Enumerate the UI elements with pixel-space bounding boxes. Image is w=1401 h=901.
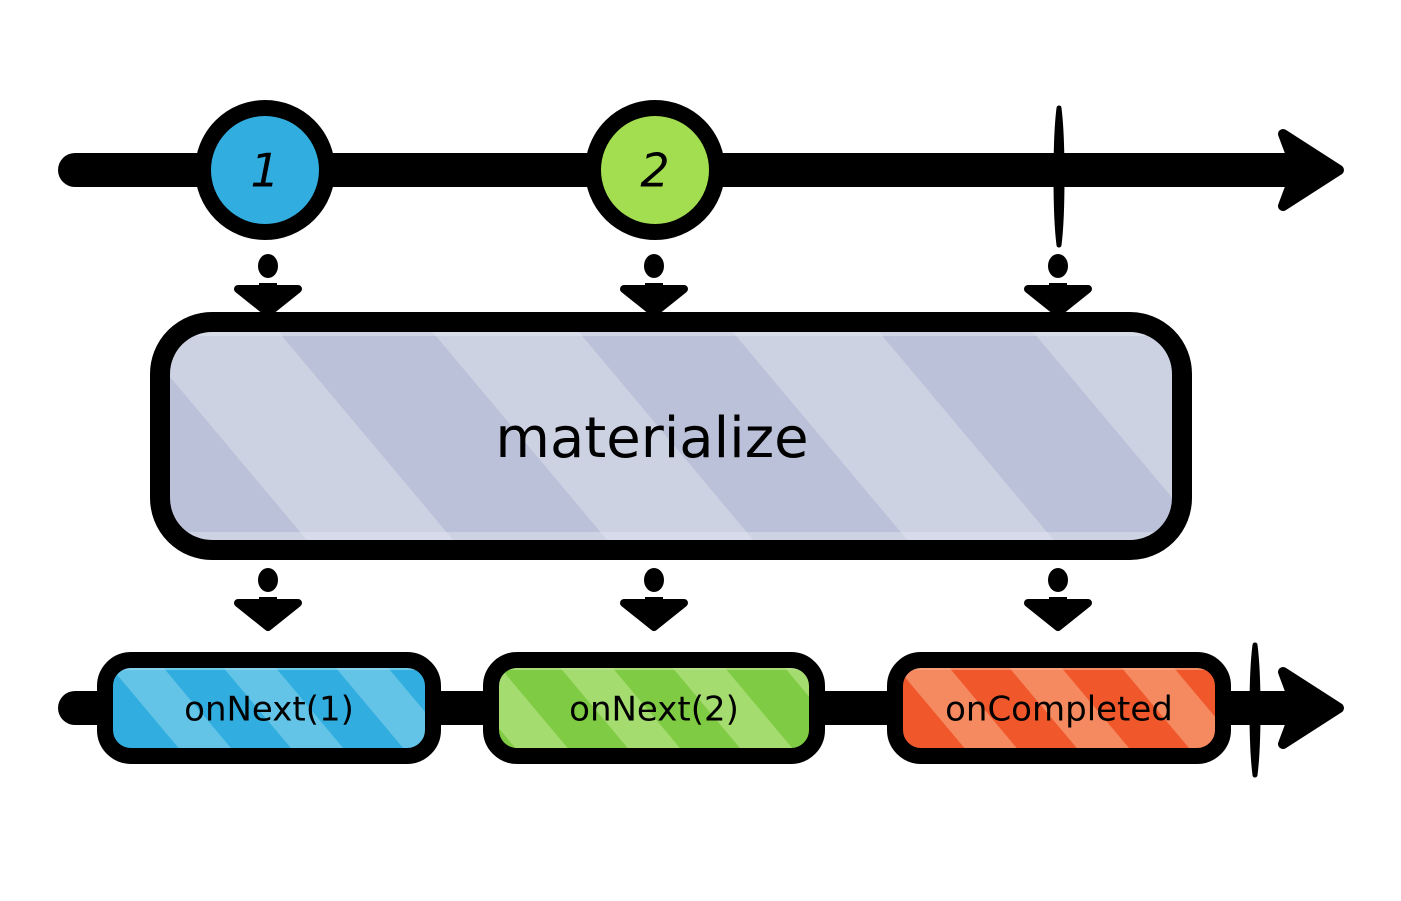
input-arrow-2	[624, 254, 684, 313]
output-arrow-3-dot	[1048, 568, 1068, 592]
output-timeline-arrowhead	[1283, 672, 1339, 744]
notification-on-next-2[interactable]: onNext(2)	[491, 660, 817, 756]
notification-on-completed[interactable]: onCompleted	[895, 660, 1223, 756]
notification-on-completed-label: onCompleted	[945, 690, 1173, 730]
input-arrow-3-dot	[1048, 254, 1068, 278]
diagram-canvas: 1 2	[0, 0, 1401, 901]
output-completion-bar	[1252, 645, 1258, 775]
output-arrow-2-dot	[644, 568, 664, 592]
output-arrow-2	[624, 568, 684, 627]
marble-diagram: 1 2	[0, 0, 1401, 901]
input-arrow-2-head	[624, 289, 684, 313]
output-arrow-3-head	[1028, 603, 1088, 627]
input-arrow-2-dot	[644, 254, 664, 278]
input-arrow-1	[238, 254, 298, 313]
output-arrow-3	[1028, 568, 1088, 627]
input-arrow-1-dot	[258, 254, 278, 278]
input-arrow-1-head	[238, 289, 298, 313]
marble-1-label: 1	[250, 144, 279, 198]
input-arrow-3-head	[1028, 289, 1088, 313]
notification-on-next-2-label: onNext(2)	[569, 690, 739, 730]
materialize-operator[interactable]: materialize	[160, 322, 1182, 550]
output-arrow-2-head	[624, 603, 684, 627]
source-completion-bar	[1056, 108, 1062, 245]
marble-2[interactable]: 2	[593, 108, 717, 232]
marble-2-label: 2	[640, 144, 669, 198]
notification-on-next-1-label: onNext(1)	[184, 690, 354, 730]
source-timeline-arrowhead	[1283, 134, 1339, 206]
notification-on-next-1[interactable]: onNext(1)	[105, 660, 433, 756]
output-arrow-1-dot	[258, 568, 278, 592]
output-arrow-1	[238, 568, 298, 627]
output-arrow-1-head	[238, 603, 298, 627]
input-arrow-3	[1028, 254, 1088, 313]
marble-1[interactable]: 1	[203, 108, 327, 232]
materialize-operator-label: materialize	[495, 406, 808, 471]
